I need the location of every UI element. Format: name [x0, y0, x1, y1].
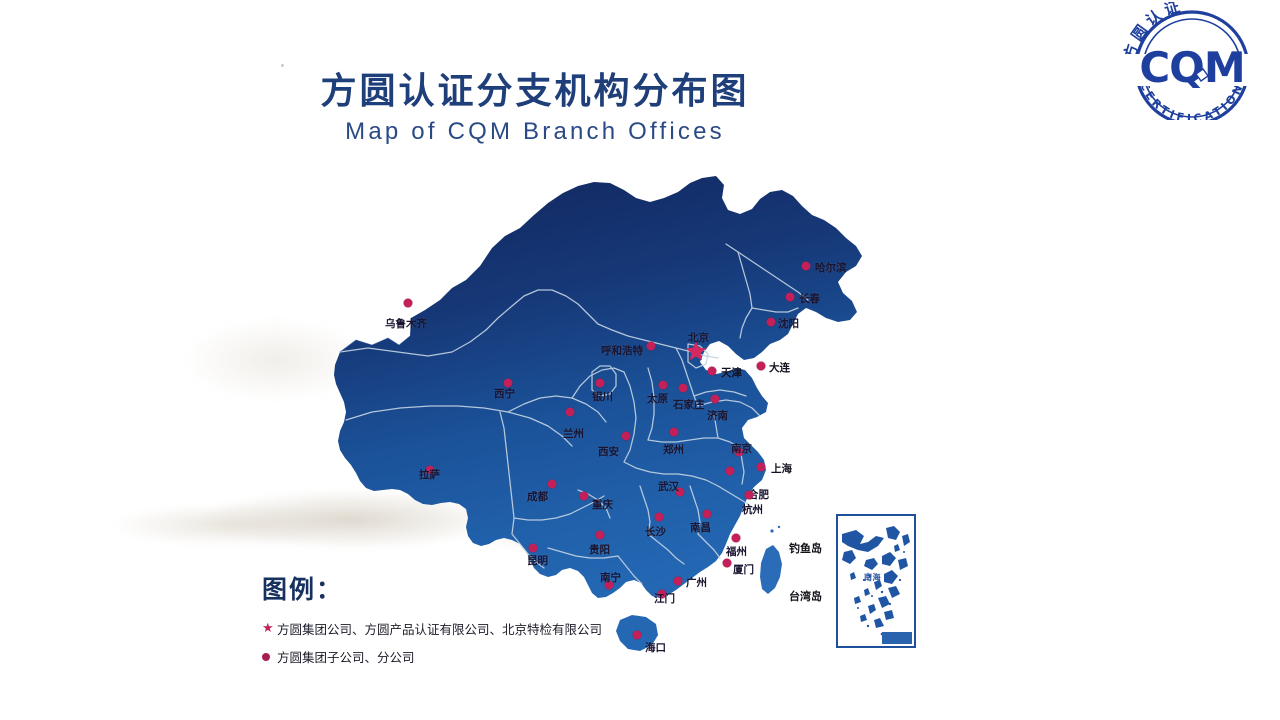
city-label: 广州: [686, 578, 707, 589]
dot-icon: [786, 293, 795, 302]
city-dot-marker: [757, 463, 766, 472]
city-label: 北京: [688, 333, 709, 344]
city-label: 哈尔滨: [815, 263, 847, 274]
city-dot-marker: [767, 318, 776, 327]
city-label: 重庆: [592, 500, 613, 511]
dot-icon: [767, 318, 776, 327]
dot-icon: [529, 544, 538, 553]
dot-icon: [670, 428, 679, 437]
legend-item: 方圆集团子公司、分公司: [262, 647, 682, 666]
inset-scale-bar: [882, 632, 912, 644]
city-dot-marker: [711, 395, 720, 404]
legend-item: ★方圆集团公司、方圆产品认证有限公司、北京特检有限公司: [262, 619, 682, 638]
dot-icon: [723, 559, 732, 568]
taiwan-island: [760, 545, 782, 594]
legend-star-icon: ★: [262, 622, 277, 635]
city-label: 兰州: [563, 429, 584, 440]
city-label: 西安: [598, 447, 619, 458]
slide-canvas: 方圆认证分支机构分布图 Map of CQM Branch Offices 方圆…: [0, 0, 1280, 720]
city-dot-marker: [757, 362, 766, 371]
city-dot-marker: [596, 531, 605, 540]
city-label: 杭州: [742, 505, 763, 516]
dot-icon: [504, 379, 513, 388]
dot-icon: [404, 299, 413, 308]
island-label: 钓鱼岛: [789, 543, 822, 554]
legend-item-label: 方圆集团子公司、分公司: [277, 647, 415, 666]
city-dot-marker: [726, 467, 735, 476]
city-dot-marker: [596, 379, 605, 388]
city-dot-marker: [622, 432, 631, 441]
city-dot-marker: [670, 428, 679, 437]
south-china-sea-inset: 南海: [836, 514, 916, 648]
city-dot-marker: [655, 513, 664, 522]
city-dot-marker: [708, 367, 717, 376]
legend-item-label: 方圆集团公司、方圆产品认证有限公司、北京特检有限公司: [277, 619, 602, 638]
dot-icon: [580, 492, 589, 501]
island-label: 台湾岛: [789, 591, 822, 602]
city-dot-marker: [732, 534, 741, 543]
city-dot-marker: [580, 492, 589, 501]
dot-icon: [659, 381, 668, 390]
city-dot-marker: [786, 293, 795, 302]
legend-items: ★方圆集团公司、方圆产品认证有限公司、北京特检有限公司方圆集团子公司、分公司: [262, 619, 682, 666]
dot-icon: [757, 463, 766, 472]
dot-icon: [596, 531, 605, 540]
city-label: 福州: [726, 547, 747, 558]
city-label: 南昌: [690, 523, 711, 534]
city-dot-marker: [504, 379, 513, 388]
city-label: 武汉: [658, 482, 679, 493]
city-label: 呼和浩特: [601, 346, 643, 357]
city-label: 沈阳: [778, 319, 799, 330]
city-label: 成都: [527, 492, 548, 503]
dot-icon: [703, 510, 712, 519]
city-label: 天津: [721, 368, 742, 379]
dot-icon: [548, 480, 557, 489]
city-dot-marker: [703, 510, 712, 519]
city-dot-marker: [745, 491, 754, 500]
inset-sea-label: 南海: [864, 572, 881, 583]
city-label: 昆明: [527, 556, 548, 567]
dot-icon: [647, 342, 656, 351]
dot-icon: [566, 408, 575, 417]
city-dot-marker: [659, 381, 668, 390]
dot-icon: [679, 384, 688, 393]
dot-icon: [745, 491, 754, 500]
city-dot-marker: [723, 559, 732, 568]
city-dot-marker: [529, 544, 538, 553]
city-label: 乌鲁木齐: [385, 319, 427, 330]
diaoyu-islet: [778, 526, 780, 528]
dot-icon: [802, 262, 811, 271]
city-label: 银川: [592, 392, 613, 403]
city-dot-marker: [647, 342, 656, 351]
city-label: 南京: [731, 444, 752, 455]
city-dot-marker: [548, 480, 557, 489]
city-dot-marker: [566, 408, 575, 417]
city-label: 济南: [707, 411, 728, 422]
city-label: 石家庄: [673, 400, 705, 411]
city-label: 西宁: [494, 389, 515, 400]
city-label: 郑州: [663, 445, 684, 456]
dot-icon: [757, 362, 766, 371]
city-label: 厦门: [733, 565, 754, 576]
legend-title: 图例：: [262, 570, 682, 606]
dot-icon: [655, 513, 664, 522]
dot-icon: [726, 467, 735, 476]
legend-dot-icon: [262, 653, 277, 661]
legend: 图例： ★方圆集团公司、方圆产品认证有限公司、北京特检有限公司方圆集团子公司、分…: [262, 570, 682, 666]
dot-icon: [596, 379, 605, 388]
dot-icon: [708, 367, 717, 376]
city-label: 太原: [647, 394, 668, 405]
city-label: 大连: [769, 363, 790, 374]
city-dot-marker: [404, 299, 413, 308]
city-dot-marker: [679, 384, 688, 393]
dot-icon: [622, 432, 631, 441]
diaoyu-islet: [770, 529, 773, 532]
city-dot-marker: [802, 262, 811, 271]
dot-icon: [711, 395, 720, 404]
city-label: 长沙: [645, 527, 666, 538]
dot-icon: [732, 534, 741, 543]
city-label: 长春: [799, 294, 820, 305]
city-label: 拉萨: [419, 470, 440, 481]
city-label: 上海: [771, 464, 792, 475]
city-label: 贵阳: [589, 545, 610, 556]
